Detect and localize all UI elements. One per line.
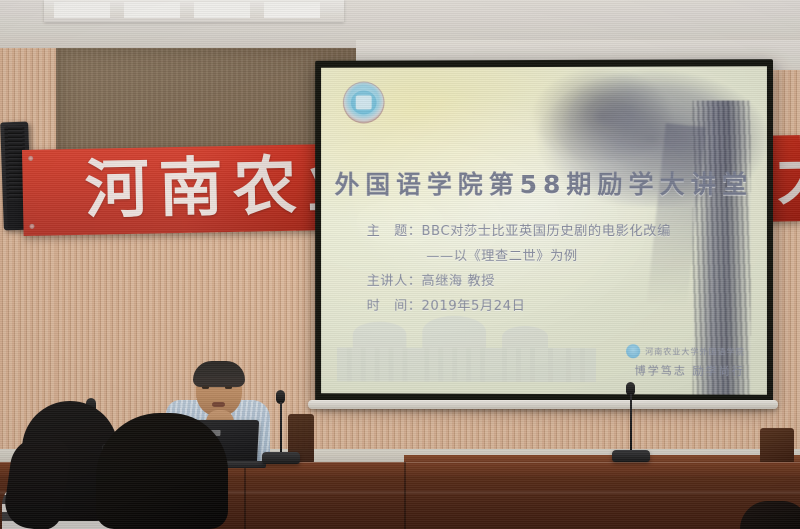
audience-hair [96,413,228,529]
audience-ponytail [2,433,72,529]
microphone-base [612,450,650,462]
table-seam [244,462,246,529]
audience-hair [740,501,800,529]
presenter-eye-right [225,386,232,389]
ceiling-light-panel [44,0,344,22]
lecture-hall-photo: 河南农业大 大 [0,0,800,529]
projection-screen-frame: 外国语学院第58期励学大讲堂 主 题：BBC对莎士比亚英国历史剧的电影化改编 —… [315,59,773,403]
slide-line-speaker: 主讲人：高继海 教授 [367,269,727,294]
chair-right [760,428,794,464]
banner-eyelet [28,156,33,161]
college-badge-icon [626,344,640,358]
slide-line-subtitle-value: ——以《理查二世》为例 [426,249,577,264]
slide-line-topic: 主 题：BBC对莎士比亚英国历史剧的电影化改编 [367,219,727,244]
slide-footer: 河南农业大学外国语学院 博学笃志 励学尚行 [626,344,745,378]
slide-line-date: 时 间：2019年5月24日 [367,294,727,320]
banner-text-tail: 大 [776,141,800,214]
slide-line-topic-label: 主 题： [367,224,422,239]
university-emblem-icon [343,81,385,123]
slide-line-speaker-label: 主讲人： [367,274,422,289]
slide-line-date-label: 时 间： [367,299,422,314]
banner-eyelet [29,224,34,229]
slide-line-subtitle: ——以《理查二世》为例 [367,244,727,269]
projection-screen-surface: 外国语学院第58期励学大讲堂 主 题：BBC对莎士比亚英国历史剧的电影化改编 —… [321,66,767,394]
presenter-mouth [212,402,225,407]
slide-footer-organization: 河南农业大学外国语学院 [645,346,745,357]
slide-body: 主 题：BBC对莎士比亚英国历史剧的电影化改编 ——以《理查二世》为例 主讲人：… [367,219,727,319]
microphone-stem [280,402,282,454]
slide-footer-slogan: 博学笃志 励学尚行 [626,362,745,378]
presenter-hair [193,361,245,387]
microphone-base [262,452,300,464]
audience-member-front-center [96,413,228,529]
microphone-stem [630,394,632,452]
slide-line-date-value: 2019年5月24日 [421,299,525,314]
screen-roller-bar [308,400,778,409]
slide-line-topic-value: BBC对莎士比亚英国历史剧的电影化改编 [421,224,670,239]
slide-title: 外国语学院第58期励学大讲堂 [321,165,767,201]
slide-line-speaker-value: 高继海 教授 [421,274,494,289]
presenter-eye-left [202,386,209,389]
table-seam [404,462,406,529]
audience-member-front-right [740,501,800,529]
